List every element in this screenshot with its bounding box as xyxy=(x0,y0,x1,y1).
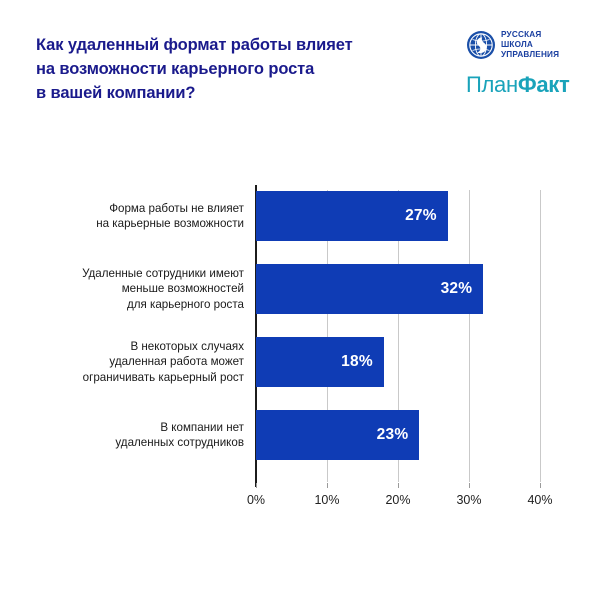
bar[interactable]: 18% xyxy=(256,337,384,387)
rsu-wordmark-line-2: ШКОЛА xyxy=(501,40,559,50)
x-tick-label: 0% xyxy=(247,493,265,507)
category-label-line: для карьерного роста xyxy=(20,297,244,313)
x-tick-mark xyxy=(256,483,257,488)
x-tick-label: 40% xyxy=(527,493,552,507)
rsu-logo: РУССКАЯ ШКОЛА УПРАВЛЕНИЯ xyxy=(466,30,591,61)
bar[interactable]: 27% xyxy=(256,191,448,241)
header: Как удаленный формат работы влияет на во… xyxy=(0,0,600,140)
logo-block: РУССКАЯ ШКОЛА УПРАВЛЕНИЯ ПланФакт xyxy=(466,30,591,98)
category-label: В компании нетудаленных сотрудников xyxy=(20,420,244,451)
rsu-wordmark-line-3: УПРАВЛЕНИЯ xyxy=(501,50,559,60)
title-line-1: Как удаленный формат работы влияет xyxy=(36,33,456,57)
x-axis: 0%10%20%30%40% xyxy=(256,488,540,518)
x-tick-label: 20% xyxy=(385,493,410,507)
category-label-line: В компании нет xyxy=(20,420,244,436)
category-label-line: В некоторых случаях xyxy=(20,339,244,355)
x-tick-mark xyxy=(540,483,541,488)
rsu-wordmark: РУССКАЯ ШКОЛА УПРАВЛЕНИЯ xyxy=(501,30,559,61)
category-label: В некоторых случаяхудаленная работа може… xyxy=(20,339,244,386)
category-label-line: меньше возможностей xyxy=(20,281,244,297)
page-title: Как удаленный формат работы влияет на во… xyxy=(36,33,456,105)
gridline xyxy=(540,190,541,482)
category-label: Форма работы не влияетна карьерные возмо… xyxy=(20,201,244,232)
planfact-logo-light: План xyxy=(466,72,518,97)
x-tick-mark xyxy=(398,483,399,488)
rsu-wordmark-line-1: РУССКАЯ xyxy=(501,30,559,40)
bar-value-label: 23% xyxy=(377,426,409,444)
category-label: Удаленные сотрудники имеютменьше возможн… xyxy=(20,266,244,313)
plot-area: 27%32%18%23% xyxy=(256,190,540,482)
globe-emblem-icon xyxy=(466,30,496,60)
category-label-line: на карьерные возможности xyxy=(20,216,244,232)
category-label-line: Форма работы не влияет xyxy=(20,201,244,217)
bar-row: 27% xyxy=(256,190,540,263)
bar[interactable]: 23% xyxy=(256,410,419,460)
category-label-line: ограничивать карьерный рост xyxy=(20,370,244,386)
planfact-logo-bold: Факт xyxy=(518,72,570,97)
bar-value-label: 27% xyxy=(405,207,437,225)
bar-row: 32% xyxy=(256,263,540,336)
x-tick-mark xyxy=(327,483,328,488)
title-line-2: на возможности карьерного роста xyxy=(36,57,456,81)
x-tick-label: 30% xyxy=(456,493,481,507)
category-label-line: Удаленные сотрудники имеют xyxy=(20,266,244,282)
category-label-line: удаленная работа может xyxy=(20,354,244,370)
planfact-logo: ПланФакт xyxy=(466,72,591,98)
x-tick-mark xyxy=(469,483,470,488)
category-label-line: удаленных сотрудников xyxy=(20,435,244,451)
bar-row: 18% xyxy=(256,336,540,409)
bar-value-label: 32% xyxy=(441,280,473,298)
x-tick-label: 10% xyxy=(314,493,339,507)
bar-row: 23% xyxy=(256,409,540,482)
bar[interactable]: 32% xyxy=(256,264,483,314)
bar-value-label: 18% xyxy=(341,353,373,371)
bar-chart: 27%32%18%23% Форма работы не влияетна ка… xyxy=(0,140,600,540)
title-line-3: в вашей компании? xyxy=(36,81,456,105)
